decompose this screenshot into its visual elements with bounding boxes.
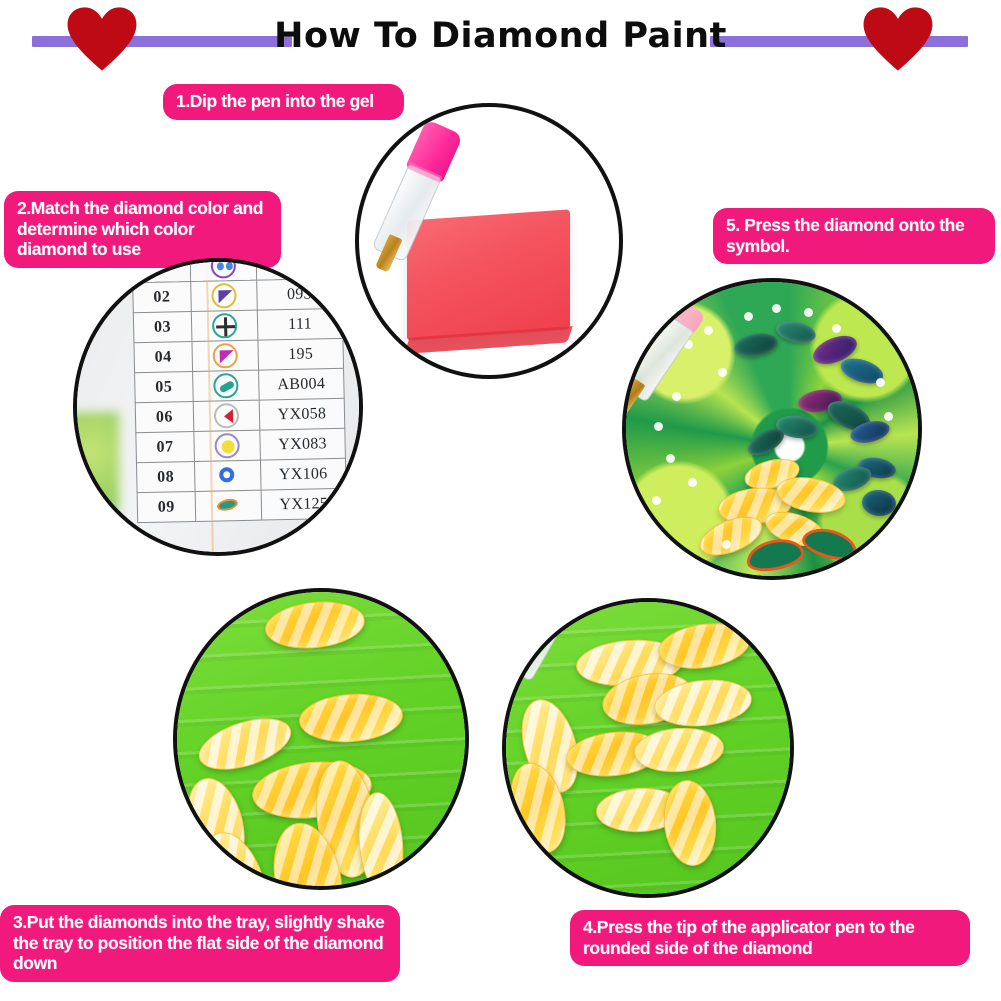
chart-row: 05AB004 xyxy=(135,368,345,402)
chart-row: 02093 xyxy=(133,278,343,312)
chart-row-symbol xyxy=(191,310,258,341)
chart-row-symbol xyxy=(194,460,261,491)
symbol-06-icon xyxy=(214,403,240,429)
diamond xyxy=(355,790,408,890)
chart-row-number: 04 xyxy=(134,341,192,372)
canvas-gem xyxy=(732,330,779,359)
canvas-edge-blur xyxy=(73,412,119,542)
tray-diamonds xyxy=(177,592,465,886)
step-1-photo xyxy=(355,103,623,379)
pink-gel-pad xyxy=(407,209,570,340)
page-title: How To Diamond Paint xyxy=(0,16,1001,56)
chart-row-number: 09 xyxy=(137,491,195,522)
step-3-label: 3.Put the diamonds into the tray, slight… xyxy=(0,905,400,982)
chart-row-number: 07 xyxy=(136,431,194,462)
canvas-symbol-dot xyxy=(688,478,697,487)
color-chart-table-wrap: 0102802093031110419505AB00406YX05807YX08… xyxy=(132,258,349,556)
chart-row: 03111 xyxy=(133,308,343,342)
diamond xyxy=(297,690,404,745)
step-5-label: 5. Press the diamond onto the symbol. xyxy=(713,208,995,264)
chart-row: 08YX106 xyxy=(136,458,346,492)
chart-row-symbol xyxy=(192,340,259,371)
chart-row: 07YX083 xyxy=(136,428,346,462)
chart-row-symbol xyxy=(190,258,257,282)
symbol-09-icon xyxy=(215,493,241,519)
infographic-canvas: How To Diamond Paint 1.Dip the pen into … xyxy=(0,0,1001,1001)
chart-row-number: 03 xyxy=(133,312,191,343)
symbol-02-icon xyxy=(211,283,237,309)
step-4-photo xyxy=(502,598,794,898)
step-3-photo xyxy=(173,588,469,890)
chart-row: 06YX058 xyxy=(135,398,345,432)
step-2-label: 2.Match the diamond color and determine … xyxy=(4,191,281,268)
canvas-symbol-dot xyxy=(718,368,727,377)
symbol-03-icon xyxy=(212,313,238,339)
chart-row-number: 08 xyxy=(136,461,194,492)
chart-row-code: 093 xyxy=(257,278,343,310)
chart-row-symbol xyxy=(190,280,257,311)
canvas-symbol-dot xyxy=(772,304,781,313)
canvas-symbol-dot xyxy=(672,392,681,401)
chart-row-code: 195 xyxy=(258,338,344,370)
pen-gel-scene xyxy=(359,107,619,375)
symbol-08-icon xyxy=(215,463,241,489)
canvas-symbol-dot xyxy=(666,454,675,463)
canvas-symbol-dot xyxy=(722,540,731,549)
symbol-01-icon xyxy=(210,258,236,279)
chart-row-symbol xyxy=(193,400,260,431)
chart-row-symbol xyxy=(194,430,261,461)
canvas-symbol-dot xyxy=(704,326,713,335)
chart-row: 09YX125 xyxy=(137,488,347,522)
chart-row-number: 05 xyxy=(135,371,193,402)
chart-row-code: 028 xyxy=(256,258,342,280)
chart-row-code: 111 xyxy=(257,308,343,340)
canvas-symbol-dot xyxy=(876,378,885,387)
chart-row-number: 06 xyxy=(135,401,193,432)
chart-row-code: AB004 xyxy=(258,368,344,400)
chart-row-symbol xyxy=(192,370,259,401)
step-4-label: 4.Press the tip of the applicator pen to… xyxy=(570,910,970,966)
canvas-symbol-dot xyxy=(652,496,661,505)
chart-row-code: YX106 xyxy=(260,458,346,490)
canvas-symbol-dot xyxy=(804,308,813,317)
symbol-07-icon xyxy=(214,433,240,459)
chart-row-symbol xyxy=(195,490,262,521)
chart-row-code: YX125 xyxy=(261,488,347,520)
chart-row-code: YX058 xyxy=(259,398,345,430)
canvas-symbol-dot xyxy=(744,312,753,321)
chart-row-number: 01 xyxy=(132,258,190,283)
chart-row-code: YX083 xyxy=(260,428,346,460)
diamond xyxy=(660,778,721,869)
canvas-gem xyxy=(861,488,898,517)
canvas-symbol-dot xyxy=(654,422,663,431)
canvas-gem xyxy=(774,318,817,346)
symbol-05-icon xyxy=(213,373,239,399)
canvas-symbol-dot xyxy=(832,324,841,333)
symbol-04-icon xyxy=(212,343,238,369)
diamond xyxy=(263,597,367,653)
step-2-photo: 0102802093031110419505AB00406YX05807YX08… xyxy=(73,258,363,556)
chart-row: 04195 xyxy=(134,338,344,372)
chart-row-number: 02 xyxy=(133,282,191,313)
canvas-symbol-dot xyxy=(884,412,893,421)
step-5-photo xyxy=(622,278,922,580)
color-chart-table: 0102802093031110419505AB00406YX05807YX08… xyxy=(132,258,348,523)
